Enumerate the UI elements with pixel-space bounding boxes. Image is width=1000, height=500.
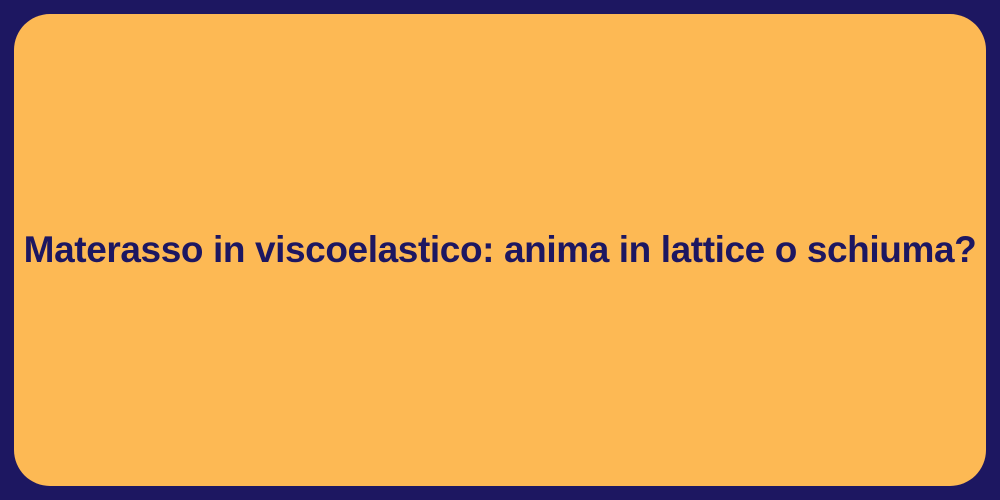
page-title: Materasso in viscoelastico: anima in lat… [14, 227, 986, 273]
banner-card: Materasso in viscoelastico: anima in lat… [14, 14, 986, 486]
banner-frame: Materasso in viscoelastico: anima in lat… [0, 0, 1000, 500]
